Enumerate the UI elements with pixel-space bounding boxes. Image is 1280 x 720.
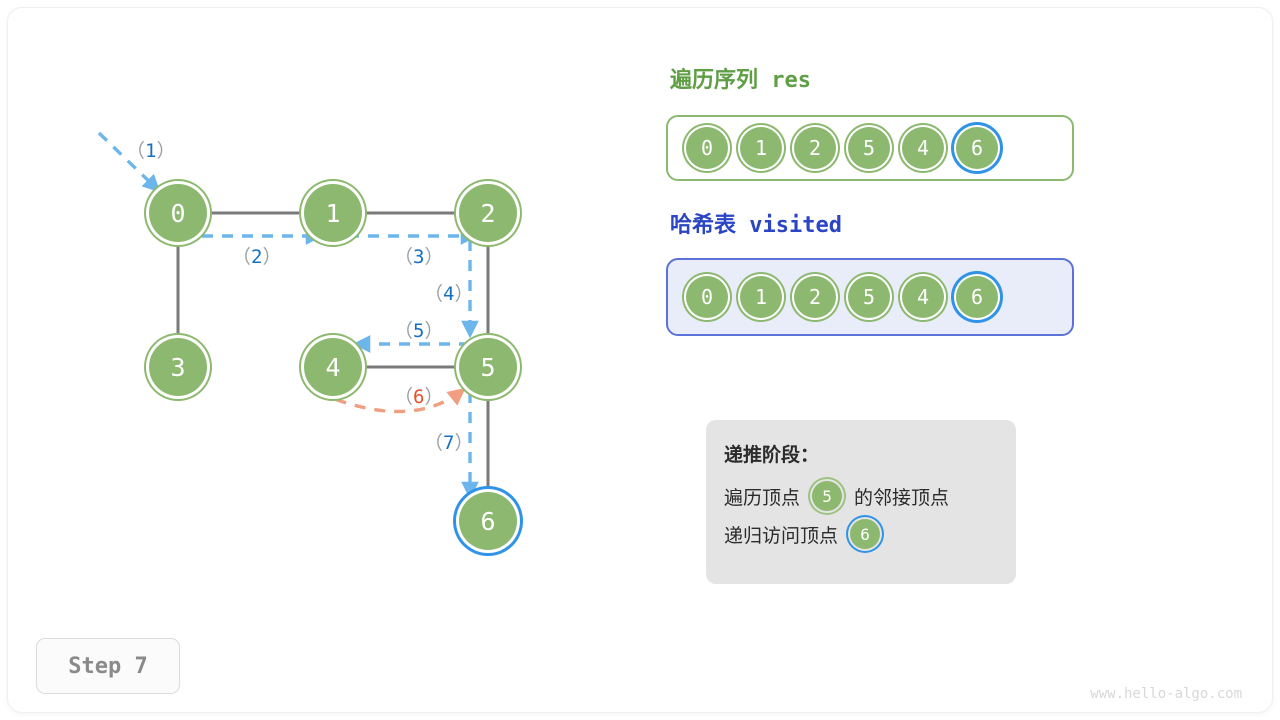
res-cell-0: 0 [686, 127, 728, 169]
watermark: www.hello-algo.com [1090, 686, 1242, 702]
res-array-box: 012546 [666, 115, 1074, 181]
info-node-6: 6 [850, 519, 880, 549]
info-node-5: 5 [812, 481, 842, 511]
graph-node-5[interactable]: 5 [459, 338, 517, 396]
step-label-3: （3） [394, 242, 443, 269]
res-cell-3: 5 [848, 127, 890, 169]
graph-node-4[interactable]: 4 [304, 338, 362, 396]
info-box-line-1: 遍历顶点 5 的邻接顶点 [724, 481, 1016, 511]
step-label-5: （5） [394, 316, 443, 343]
step-label-4: （4） [424, 279, 473, 306]
visited-hashmap-box: 012546 [666, 258, 1074, 336]
visited-cell-0: 0 [686, 276, 728, 318]
res-panel-title: 遍历序列 res [670, 62, 811, 94]
visited-cell-2: 2 [794, 276, 836, 318]
res-cell-2: 2 [794, 127, 836, 169]
res-cell-4: 4 [902, 127, 944, 169]
info-box-heading: 递推阶段： [724, 440, 1016, 467]
step-label-6: （6） [394, 382, 443, 409]
visited-cell-3: 5 [848, 276, 890, 318]
graph-node-3[interactable]: 3 [149, 338, 207, 396]
visited-cell-4: 4 [902, 276, 944, 318]
step-label-7: （7） [424, 428, 473, 455]
graph-node-2[interactable]: 2 [459, 184, 517, 242]
step-badge: Step 7 [36, 638, 180, 694]
step-label-1: （1） [126, 136, 175, 163]
res-cell-5: 6 [956, 127, 998, 169]
info-box: 递推阶段： 遍历顶点 5 的邻接顶点 递归访问顶点 6 [706, 420, 1016, 584]
visited-cell-5: 6 [956, 276, 998, 318]
info-line-1-prefix: 遍历顶点 [724, 483, 800, 510]
res-cell-1: 1 [740, 127, 782, 169]
visited-panel-title: 哈希表 visited [670, 207, 842, 239]
graph-node-6[interactable]: 6 [459, 492, 517, 550]
info-line-1-suffix: 的邻接顶点 [854, 483, 949, 510]
graph-node-1[interactable]: 1 [304, 184, 362, 242]
info-line-2-prefix: 递归访问顶点 [724, 521, 838, 548]
visited-cell-1: 1 [740, 276, 782, 318]
info-box-line-2: 递归访问顶点 6 [724, 519, 1016, 549]
graph-node-0[interactable]: 0 [149, 184, 207, 242]
step-label-2: （2） [232, 242, 281, 269]
